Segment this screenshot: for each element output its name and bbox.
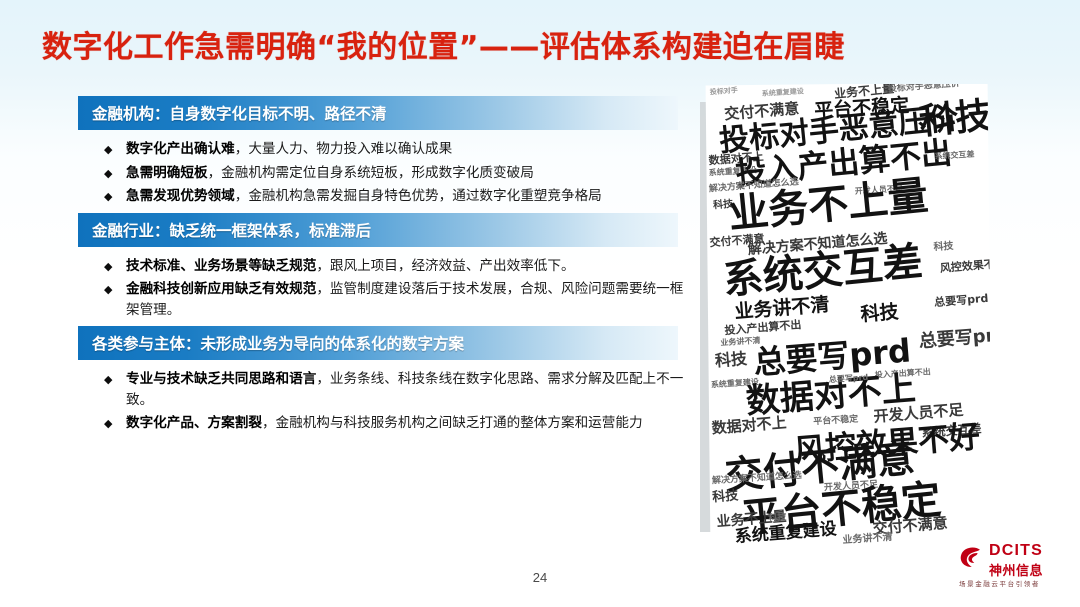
bullet-list: ◆技术标准、业务场景等缺乏规范，跟风上项目，经济效益、产出效率低下。◆金融科技创…: [104, 247, 694, 321]
section-block: 金融行业：缺乏统一框架体系，标准滞后◆技术标准、业务场景等缺乏规范，跟风上项目，…: [0, 213, 700, 321]
content-column: 金融机构：自身数字化目标不明、路径不清◆数字化产出确认难，大量人力、物力投入难以…: [0, 96, 700, 556]
title-bar: 数字化工作急需明确“我的位置”——评估体系构建迫在眉睫: [0, 22, 1080, 74]
bullet-rest: ，金融机构与科技服务机构之间缺乏打通的整体方案和运营能力: [262, 415, 643, 431]
word-cloud-term: 系统重复建设: [762, 88, 804, 98]
word-cloud-term: 总要写prd: [918, 326, 990, 351]
word-cloud-term: 业务讲不清: [842, 533, 893, 546]
word-cloud-term: 科技: [933, 242, 954, 253]
section-header-3: 各类参与主体：未形成业务为导向的体系化的数字方案: [78, 326, 678, 360]
bullet-lead: 急需发现优势领域: [126, 188, 235, 204]
bullet-item: ◆金融科技创新应用缺乏有效规范，监管制度建设落后于技术发展，合规、风险问题需要统…: [104, 279, 694, 320]
diamond-bullet-icon: ◆: [104, 186, 112, 207]
section-header-2: 金融行业：缺乏统一框架体系，标准滞后: [78, 213, 678, 247]
word-cloud-term: 数据对不上: [711, 415, 787, 436]
bullet-lead: 技术标准、业务场景等缺乏规范: [126, 258, 316, 274]
diamond-bullet-icon: ◆: [104, 279, 112, 300]
bullet-lead: 数字化产品、方案割裂: [126, 415, 262, 431]
word-cloud-term: 系统交互差: [934, 151, 974, 161]
diamond-bullet-icon: ◆: [104, 256, 112, 277]
bullet-list: ◆专业与技术缺乏共同思路和语言，业务条线、科技条线在数字化思路、需求分解及匹配上…: [104, 360, 694, 434]
diamond-bullet-icon: ◆: [104, 413, 112, 434]
section-header-label: 金融机构：自身数字化目标不明、路径不清: [78, 102, 387, 124]
bullet-rest: ，大量人力、物力投入难以确认成果: [235, 141, 453, 157]
bullet-rest: ，跟风上项目，经济效益、产出效率低下。: [316, 258, 574, 274]
slide-canvas: 数字化工作急需明确“我的位置”——评估体系构建迫在眉睫 金融机构：自身数字化目标…: [0, 0, 1080, 607]
bullet-list: ◆数字化产出确认难，大量人力、物力投入难以确认成果◆急需明确短板，金融机构需定位…: [104, 130, 694, 207]
logo-brand-cn: 神州信息: [989, 560, 1043, 579]
bullet-item: ◆急需明确短板，金融机构需定位自身系统短板，形成数字化质变破局: [104, 163, 694, 184]
bullet-lead: 专业与技术缺乏共同思路和语言: [126, 371, 316, 387]
bullet-lead: 数字化产出确认难: [126, 141, 235, 157]
section-block: 各类参与主体：未形成业务为导向的体系化的数字方案◆专业与技术缺乏共同思路和语言，…: [0, 326, 700, 434]
page-number: 24: [0, 570, 1080, 585]
section-block: 金融机构：自身数字化目标不明、路径不清◆数字化产出确认难，大量人力、物力投入难以…: [0, 96, 700, 207]
word-cloud-term: 平台不稳定: [813, 416, 858, 428]
word-cloud-term: 科技: [712, 489, 739, 504]
diamond-bullet-icon: ◆: [104, 139, 112, 160]
diamond-bullet-icon: ◆: [104, 369, 112, 390]
diamond-bullet-icon: ◆: [104, 163, 112, 184]
section-header-label: 金融行业：缺乏统一框架体系，标准滞后: [78, 219, 371, 241]
word-cloud-term: 科技: [714, 351, 747, 370]
bullet-item: ◆数字化产品、方案割裂，金融机构与科技服务机构之间缺乏打通的整体方案和运营能力: [104, 413, 694, 434]
section-header-label: 各类参与主体：未形成业务为导向的体系化的数字方案: [78, 332, 464, 354]
word-cloud: 交付不满意平台不稳定业务不上量投标对手恶意压价科技投标对手系统重复建设投标对手恶…: [698, 84, 990, 546]
word-cloud-term: 科技: [860, 303, 899, 325]
bullet-lead: 金融科技创新应用缺乏有效规范: [126, 281, 316, 297]
word-cloud-canvas: 交付不满意平台不稳定业务不上量投标对手恶意压价科技投标对手系统重复建设投标对手恶…: [706, 84, 990, 545]
section-header-1: 金融机构：自身数字化目标不明、路径不清: [78, 96, 678, 130]
word-cloud-term: 风控效果不好: [939, 258, 990, 274]
logo-tagline: 场景金融云平台引领者: [959, 578, 1040, 588]
bullet-item: ◆技术标准、业务场景等缺乏规范，跟风上项目，经济效益、产出效率低下。: [104, 256, 694, 277]
bullet-rest: ，金融机构需定位自身系统短板，形成数字化质变破局: [208, 165, 534, 181]
swirl-mark-icon: [958, 544, 984, 570]
page-title: 数字化工作急需明确“我的位置”——评估体系构建迫在眉睫: [42, 22, 845, 66]
word-cloud-term: 总要写prd: [934, 293, 989, 308]
logo-brand: DCITS: [989, 542, 1043, 560]
word-cloud-term: 业务讲不清: [734, 296, 830, 323]
bullet-item: ◆专业与技术缺乏共同思路和语言，业务条线、科技条线在数字化思路、需求分解及匹配上…: [104, 369, 694, 410]
bullet-item: ◆数字化产出确认难，大量人力、物力投入难以确认成果: [104, 139, 694, 160]
bullet-item: ◆急需发现优势领域，金融机构急需发掘自身特色优势，通过数字化重塑竞争格局: [104, 186, 694, 207]
company-logo: DCITS 神州信息 场景金融云平台引领者: [958, 540, 1070, 598]
bullet-rest: ，金融机构急需发掘自身特色优势，通过数字化重塑竞争格局: [235, 188, 602, 204]
bullet-lead: 急需明确短板: [126, 165, 208, 181]
word-cloud-term: 投标对手恶意压价: [888, 84, 961, 95]
word-cloud-term: 投标对手: [710, 87, 738, 96]
